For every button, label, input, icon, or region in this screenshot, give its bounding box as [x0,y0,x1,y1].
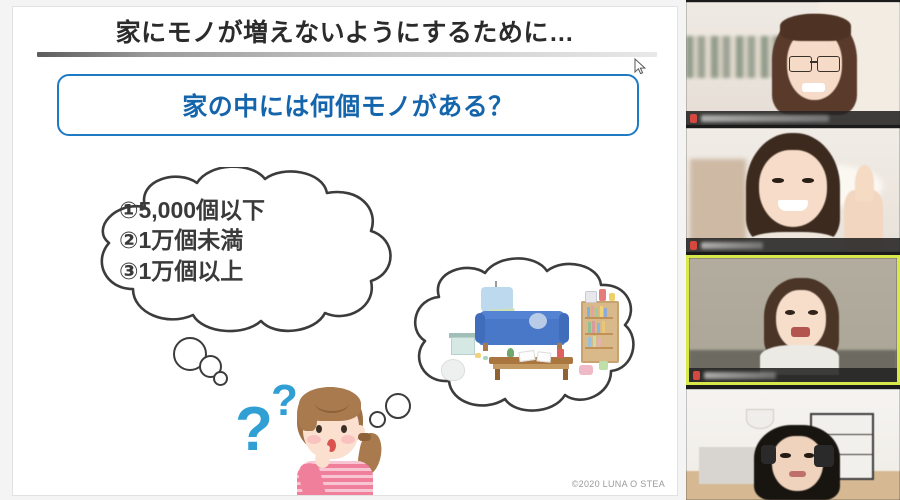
paper-2 [537,351,552,362]
shelf-top-jar [609,293,615,301]
tile-3-name-bar [689,368,897,382]
copyright-text: ©2020 LUNA O STEA [572,479,665,489]
coffee-table-leg-right [563,369,568,380]
shelf-top-box [585,291,597,303]
tile-1-participant-mouth [802,83,826,92]
video-tile-3-active-speaker[interactable] [686,255,900,385]
glasses-bridge [810,61,817,63]
girl-hair-tie [358,433,371,441]
sofa-arm-left [475,313,485,343]
toy-1 [579,365,593,375]
answer-option-3: ③1万個以上 [119,256,369,286]
cup [557,349,564,358]
girl-cheek-left [307,435,321,444]
question-box: 家の中には何個モノがある？ [57,74,639,136]
scattered-item-1 [475,353,481,358]
tile-1-name-bar [686,111,900,125]
answer-options: ①5,000個以下 ②1万個未満 ③1万個以上 [119,195,369,286]
meeting-screen: 家にモノが増えないようにするために… 家の中には何個モノがある？ ①5,000個… [0,0,900,500]
scattered-item-2 [483,356,488,360]
shelf-top-bottle [599,289,606,301]
presentation-slide: 家にモノが増えないようにするために… 家の中には何個モノがある？ ①5,000個… [12,6,678,496]
question-mark-large: ? [235,399,273,461]
mouse-cursor [634,58,646,76]
thinking-girl-illustration [275,385,405,496]
tile-3-participant-mouth [791,327,810,337]
cluttered-room-illustration [433,283,603,393]
tile-2-name-label [701,242,763,249]
storage-box [451,337,475,355]
girl-hair-strand [315,393,349,413]
sofa-body [479,319,565,345]
tile-2-participant-eye-left [772,178,785,183]
glasses-right-lens [817,56,840,72]
video-tile-2[interactable] [686,128,900,252]
small-plant [507,348,514,357]
room-thought-cloud [385,257,635,422]
title-divider [37,52,657,57]
screen-share-area[interactable]: 家にモノが増えないようにするために… 家の中には何個モノがある？ ①5,000個… [0,0,686,500]
tile-2-participant-mouth [778,200,808,211]
trash-bag [441,359,465,381]
tile-2-participant-eye-right [802,178,815,183]
answer-option-2: ②1万個未満 [119,225,369,255]
sofa-leg-left [483,343,488,351]
answer-option-1: ①5,000個以下 [119,195,369,225]
girl-fringe [297,395,317,431]
question-box-text: 家の中には何個モノがある？ [182,87,514,123]
sofa-cushion [529,313,547,329]
answer-thought-cloud: ①5,000個以下 ②1万個未満 ③1万個以上 [75,167,405,337]
girl-eye-right [341,425,347,433]
toy-2 [599,361,608,370]
tile-4-participant-mouth [789,471,806,477]
headset-left-cup [761,445,776,465]
sofa-arm-right [559,313,569,343]
tile-3-participant-eye-right [808,310,818,315]
pointing-finger-icon [855,165,874,202]
girl-eye-left [316,425,322,433]
tile-3-participant-eye-left [785,310,795,315]
glasses-icon [789,56,812,72]
microphone-muted-icon [690,241,697,250]
girl-cheek-right [341,435,355,444]
tile-4-participant-eye-right [804,453,815,457]
answer-cloud-tail-3 [213,371,228,386]
tile-4-participant-eye-left [780,453,791,457]
tile-1-name-label [701,115,829,122]
video-tile-4[interactable] [686,389,900,500]
slide-title: 家にモノが増えないようにするために… [13,13,677,49]
tile-2-name-bar [686,238,900,252]
microphone-muted-icon [693,371,700,380]
participant-filmstrip [686,0,900,500]
tile-2-participant-face [759,150,827,227]
coffee-table-shelf [493,364,569,369]
tile-3-name-label [704,372,776,379]
microphone-muted-icon [690,114,697,123]
bookshelf [581,301,619,363]
video-tile-1[interactable] [686,2,900,125]
tile-1-participant-fringe [780,14,851,41]
headset-icon [814,445,833,467]
coffee-table-leg-left [495,369,500,380]
tile-3-participant-face [776,290,826,350]
